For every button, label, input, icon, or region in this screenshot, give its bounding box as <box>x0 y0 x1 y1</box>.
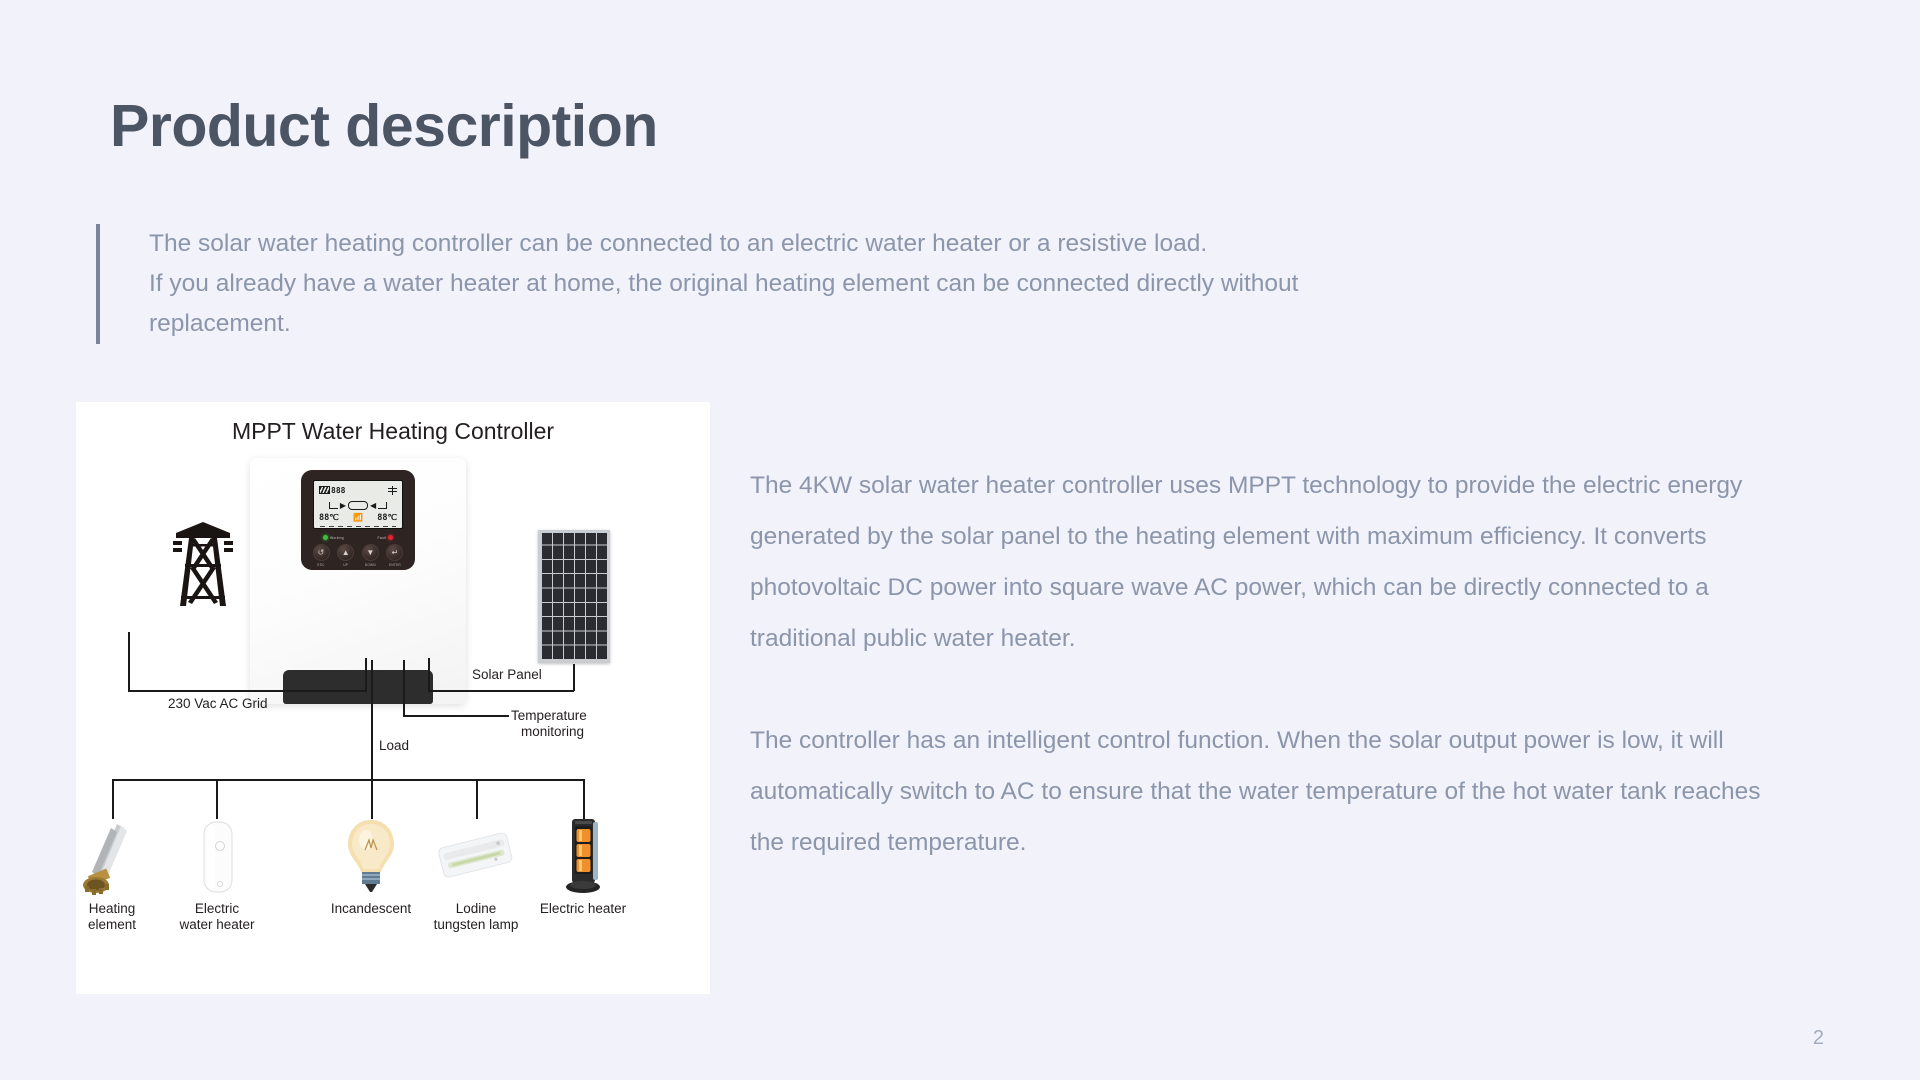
lcd-pv-reading: 888 <box>319 486 345 495</box>
electric-water-heater-icon <box>162 816 272 898</box>
lcd-screen: 888 ▶ ◀ 88℃ 📶 88℃ <box>313 480 403 529</box>
page-number: 2 <box>1813 1027 1824 1050</box>
label-load: Load <box>379 738 409 754</box>
wire-grid-horizontal <box>128 690 366 692</box>
wire-grid-to-controller <box>365 658 367 692</box>
label-grid: 230 Vac AC Grid <box>168 696 268 712</box>
appliance-incandescent-lamp: Incandescent <box>316 816 426 917</box>
wire-solar-horizontal <box>428 690 574 692</box>
lead-line-1: The solar water heating controller can b… <box>149 224 1298 264</box>
body-column: The 4KW solar water heater controller us… <box>750 460 1780 868</box>
controller-terminal-cover <box>283 670 433 704</box>
label-temperature-monitoring: Temperature monitoring <box>511 708 621 740</box>
iodine-tungsten-lamp-icon <box>421 816 531 898</box>
working-led-label: Working <box>330 536 344 540</box>
status-led-row: Working Fault <box>323 533 393 542</box>
wire-drop-5 <box>583 779 585 819</box>
appliance-iodine-tungsten-lamp: Lodine tungsten lamp <box>421 816 531 933</box>
down-button[interactable]: ▼ DOWN <box>359 544 381 567</box>
appliance-label-iodine-tungsten-lamp: Lodine tungsten lamp <box>421 901 531 933</box>
appliance-electric-heater: Electric heater <box>528 816 638 917</box>
lcd-status-bar <box>320 526 396 527</box>
body-paragraph-2: The controller has an intelligent contro… <box>750 715 1780 868</box>
lead-line-3: replacement. <box>149 304 1298 344</box>
lcd-temp-right: 88℃ <box>377 513 397 523</box>
arrow-right-icon: ▶ <box>340 502 346 510</box>
appliance-label-electric-water-heater: Electric water heater <box>162 901 272 933</box>
fault-led-label: Fault <box>377 536 386 540</box>
wire-solar-to-panel <box>573 664 575 691</box>
down-button-label: DOWN <box>365 563 376 567</box>
solar-panel-icon <box>319 486 330 494</box>
lead-block: The solar water heating controller can b… <box>96 224 1816 344</box>
esc-button-label: ESC <box>317 563 324 567</box>
transmission-tower-icon <box>172 520 234 616</box>
appliance-label-electric-heater: Electric heater <box>528 901 638 917</box>
page-title: Product description <box>110 96 658 158</box>
label-temperature-line1: Temperature <box>511 708 621 724</box>
wire-drop-1 <box>112 779 114 819</box>
label-solar-panel: Solar Panel <box>472 667 542 683</box>
wifi-icon: 📶 <box>353 513 363 522</box>
electric-heater-icon <box>528 816 638 898</box>
enter-button-label: ENTER <box>389 563 401 567</box>
wire-drop-3 <box>371 779 373 819</box>
incandescent-lamp-icon <box>316 816 426 898</box>
body-paragraph-1: The 4KW solar water heater controller us… <box>750 460 1780 664</box>
enter-icon: ↵ <box>386 544 403 561</box>
up-button-label: UP <box>343 563 348 567</box>
solar-panel-graphic <box>538 530 610 663</box>
led-green-icon <box>323 535 328 540</box>
controller-button-row: ↺ ESC ▲ UP ▼ DOWN ↵ ENTER <box>310 544 406 567</box>
wire-temp-vertical <box>403 660 405 716</box>
lcd-tank-icon <box>348 501 368 510</box>
enter-button[interactable]: ↵ ENTER <box>384 544 406 567</box>
label-temperature-line2: monitoring <box>521 724 621 740</box>
system-diagram-image: MPPT Water Heating Controller <box>76 402 710 994</box>
appliance-heating-element: Heating element <box>76 816 167 933</box>
controller-front-panel: 888 ▶ ◀ 88℃ 📶 88℃ <box>301 470 415 570</box>
lcd-flow-diagram: ▶ ◀ <box>322 498 394 513</box>
lcd-temp-left: 88℃ <box>319 513 339 523</box>
led-red-icon <box>388 535 393 540</box>
esc-icon: ↺ <box>313 544 330 561</box>
appliance-label-incandescent-lamp: Incandescent <box>316 901 426 917</box>
chevron-down-icon: ▼ <box>362 544 379 561</box>
arrow-left-icon: ◀ <box>370 502 376 510</box>
heating-element-icon <box>76 816 167 898</box>
working-led: Working <box>323 535 344 540</box>
fault-led: Fault <box>377 535 393 540</box>
diagram-title: MPPT Water Heating Controller <box>76 418 710 445</box>
wire-load-bus <box>112 779 584 781</box>
lead-text: The solar water heating controller can b… <box>149 224 1298 344</box>
lcd-flow-right-leg <box>378 502 387 509</box>
wire-drop-4 <box>476 779 478 819</box>
up-button[interactable]: ▲ UP <box>335 544 357 567</box>
chevron-up-icon: ▲ <box>337 544 354 561</box>
accent-bar <box>96 224 100 344</box>
appliance-label-heating-element: Heating element <box>76 901 167 933</box>
solar-panel-cells <box>541 533 607 660</box>
esc-button[interactable]: ↺ ESC <box>310 544 332 567</box>
wire-drop-2 <box>216 779 218 819</box>
lead-line-2: If you already have a water heater at ho… <box>149 264 1298 304</box>
grid-icon <box>388 486 397 495</box>
wire-load-trunk <box>371 660 373 780</box>
wire-temp-horizontal <box>403 715 509 717</box>
appliance-electric-water-heater: Electric water heater <box>162 816 272 933</box>
wire-grid-to-tower <box>128 632 130 692</box>
lcd-pv-value: 888 <box>331 486 345 495</box>
lcd-flow-left-leg <box>329 502 338 509</box>
mppt-controller-unit: 888 ▶ ◀ 88℃ 📶 88℃ <box>250 458 466 704</box>
wire-solar-to-controller <box>428 658 430 692</box>
